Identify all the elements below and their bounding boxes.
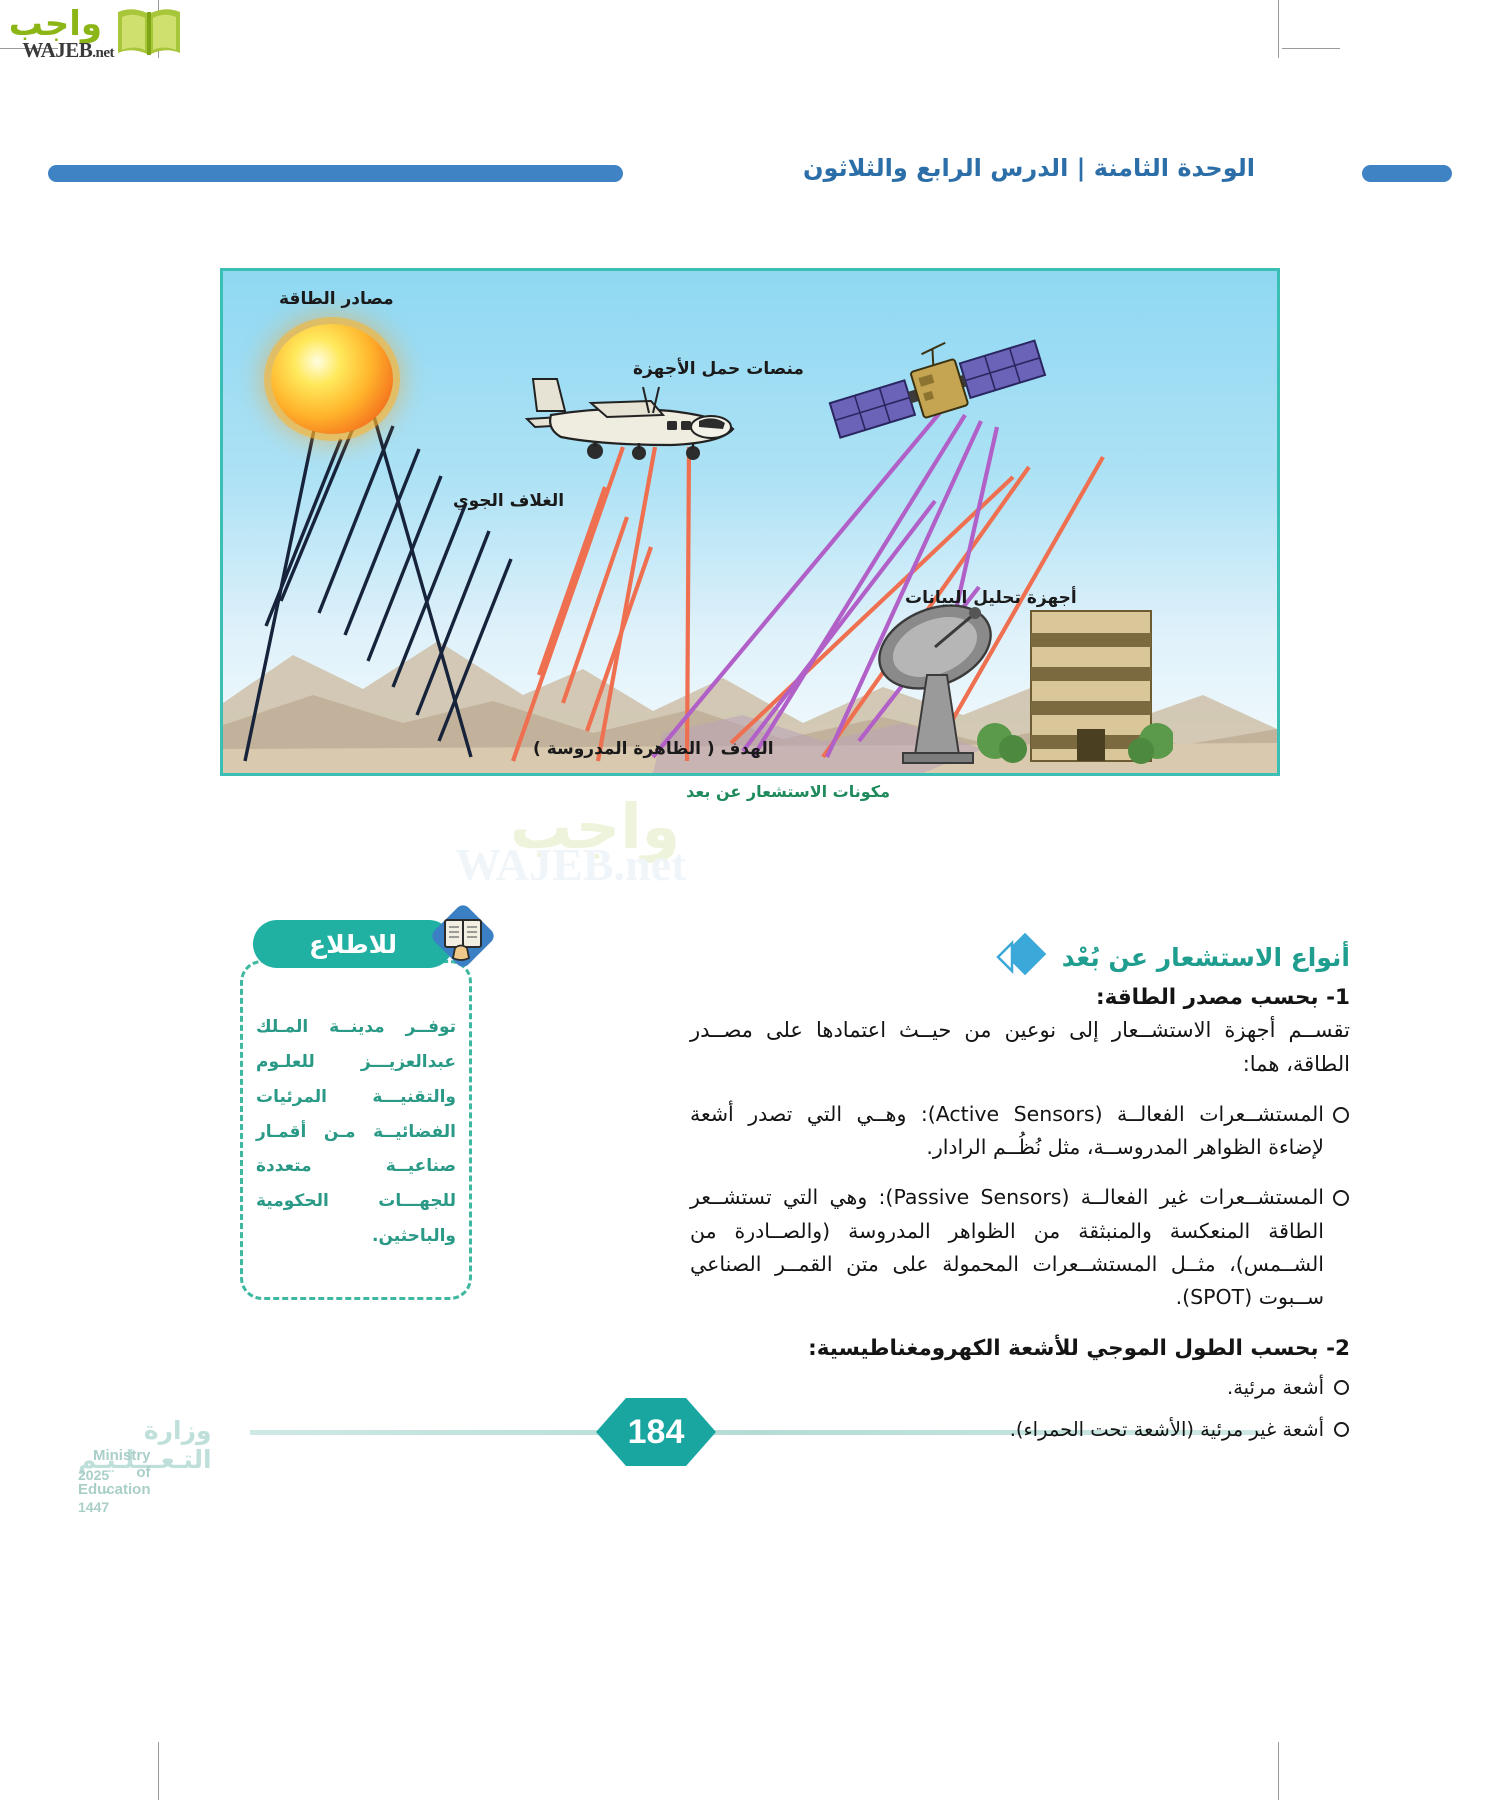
satellite-graphic [813, 331, 1063, 451]
label-platforms: منصات حمل الأجهزة [633, 359, 804, 379]
trim-mark-right [1282, 48, 1340, 49]
bullet-invisible-rays: أشعة غير مرئية (الأشعة تحت الحمراء). [690, 1415, 1350, 1444]
section-title: أنواع الاستشعار عن بُعْد [1062, 943, 1350, 972]
label-data-analysis: أجهزة تحليل البيانات [905, 588, 1077, 608]
lesson-body: 1- بحسب مصدر الطاقة: تقســم أجهزة الاستش… [690, 985, 1350, 1444]
aside-pill-label: للاطلاع [309, 930, 397, 959]
label-atmosphere: الغلاف الجوي [453, 491, 564, 511]
header-bar-right [1362, 165, 1452, 182]
ground-station-graphic [873, 589, 1173, 776]
trim-mark-top-right [1278, 0, 1279, 58]
aside-info-box [240, 960, 472, 1300]
subsection-1-body: تقســم أجهزة الاستشــعار إلى نوعين من حي… [690, 1013, 1350, 1081]
trim-mark-bottom-left [158, 1742, 159, 1800]
header-bar-left [48, 165, 623, 182]
open-book-hand-icon [425, 898, 501, 974]
wajeb-watermark-logo: واجب WAJEB.net [8, 4, 188, 62]
diamond-bullet-icon [992, 930, 1046, 984]
label-target: الهدف ( الظاهرة المدروسة ) [533, 739, 774, 759]
wajeb-logo-latin: WAJEB.net [22, 38, 114, 63]
trim-mark-bottom-right [1278, 1742, 1279, 1800]
ministry-year: 2025 - 1447 [78, 1467, 109, 1515]
subsection-1-heading: 1- بحسب مصدر الطاقة: [690, 985, 1350, 1010]
bullet-visible-rays: أشعة مرئية. [690, 1373, 1350, 1402]
page-number-badge: 184 [596, 1388, 716, 1476]
bullet-passive-sensors: المستشــعرات غير الفعالــة (Passive Sens… [690, 1181, 1350, 1314]
watermark-arabic: واجب [510, 790, 680, 863]
airplane-graphic [521, 371, 751, 463]
section-heading: أنواع الاستشعار عن بُعْد [992, 930, 1350, 984]
page-number: 184 [596, 1388, 716, 1476]
label-energy-sources: مصادر الطاقة [279, 289, 394, 309]
remote-sensing-illustration: مصادر الطاقة منصات حمل الأجهزة الغلاف ال… [220, 268, 1280, 776]
open-book-icon [116, 6, 182, 62]
illustration-caption: مكونات الاستشعار عن بعد [686, 782, 890, 801]
subsection-2-heading: 2- بحسب الطول الموجي للأشعة الكهرومغناطي… [690, 1336, 1350, 1361]
bullet-active-sensors: المستشــعرات الفعالــة (Active Sensors):… [690, 1098, 1350, 1164]
breadcrumb: الوحدة الثامنة | الدرس الرابع والثلاثون [803, 154, 1255, 182]
watermark-latin: WAJEB.net [455, 838, 686, 891]
page-header: الوحدة الثامنة | الدرس الرابع والثلاثون [0, 160, 1500, 188]
sun-graphic [271, 324, 393, 434]
aside-pill: للاطلاع [253, 920, 453, 968]
